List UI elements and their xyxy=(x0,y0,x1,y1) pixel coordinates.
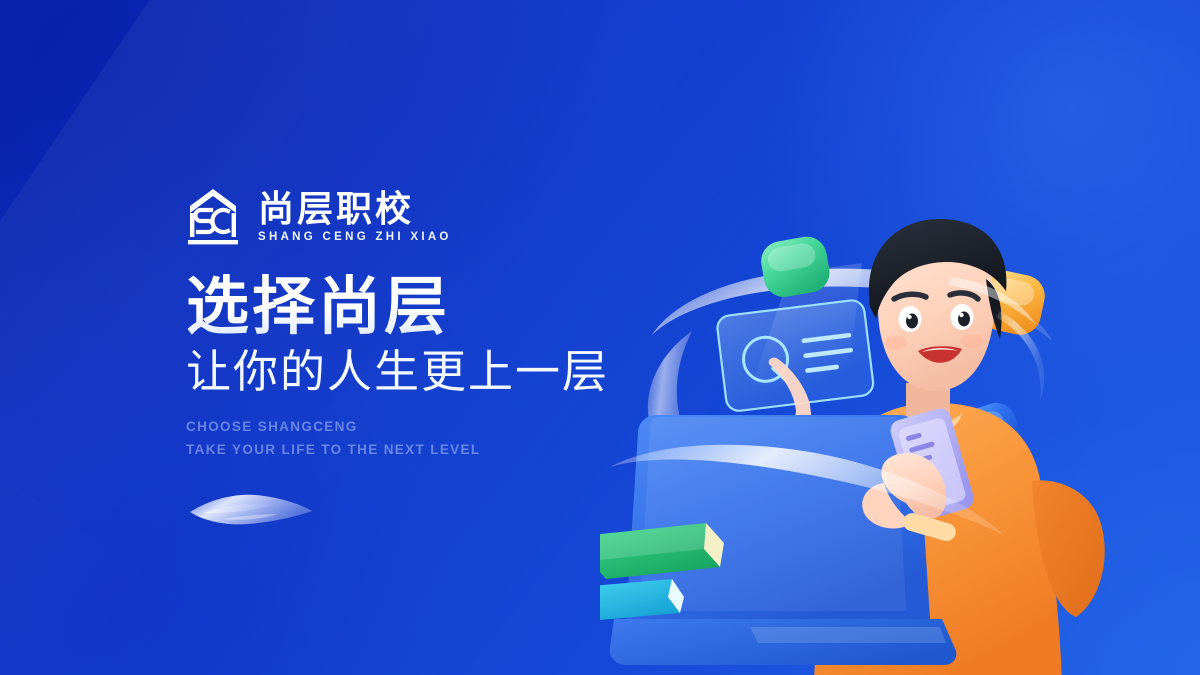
building-monogram-sc-icon xyxy=(186,186,240,248)
brand-wordmark: 尚层职校 SHANG CENG ZHI XIAO xyxy=(258,186,452,243)
brand-name-pinyin: SHANG CENG ZHI XIAO xyxy=(258,231,452,243)
promo-banner: 尚层职校 SHANG CENG ZHI XIAO 选择尚层 让你的人生更上一层 … xyxy=(0,0,1200,675)
young-man-3d-icon xyxy=(869,219,1007,391)
student-with-laptop-illustration xyxy=(600,215,1200,675)
brush-swoosh-icon xyxy=(186,486,316,534)
brand-name-cn: 尚层职校 xyxy=(258,190,452,227)
